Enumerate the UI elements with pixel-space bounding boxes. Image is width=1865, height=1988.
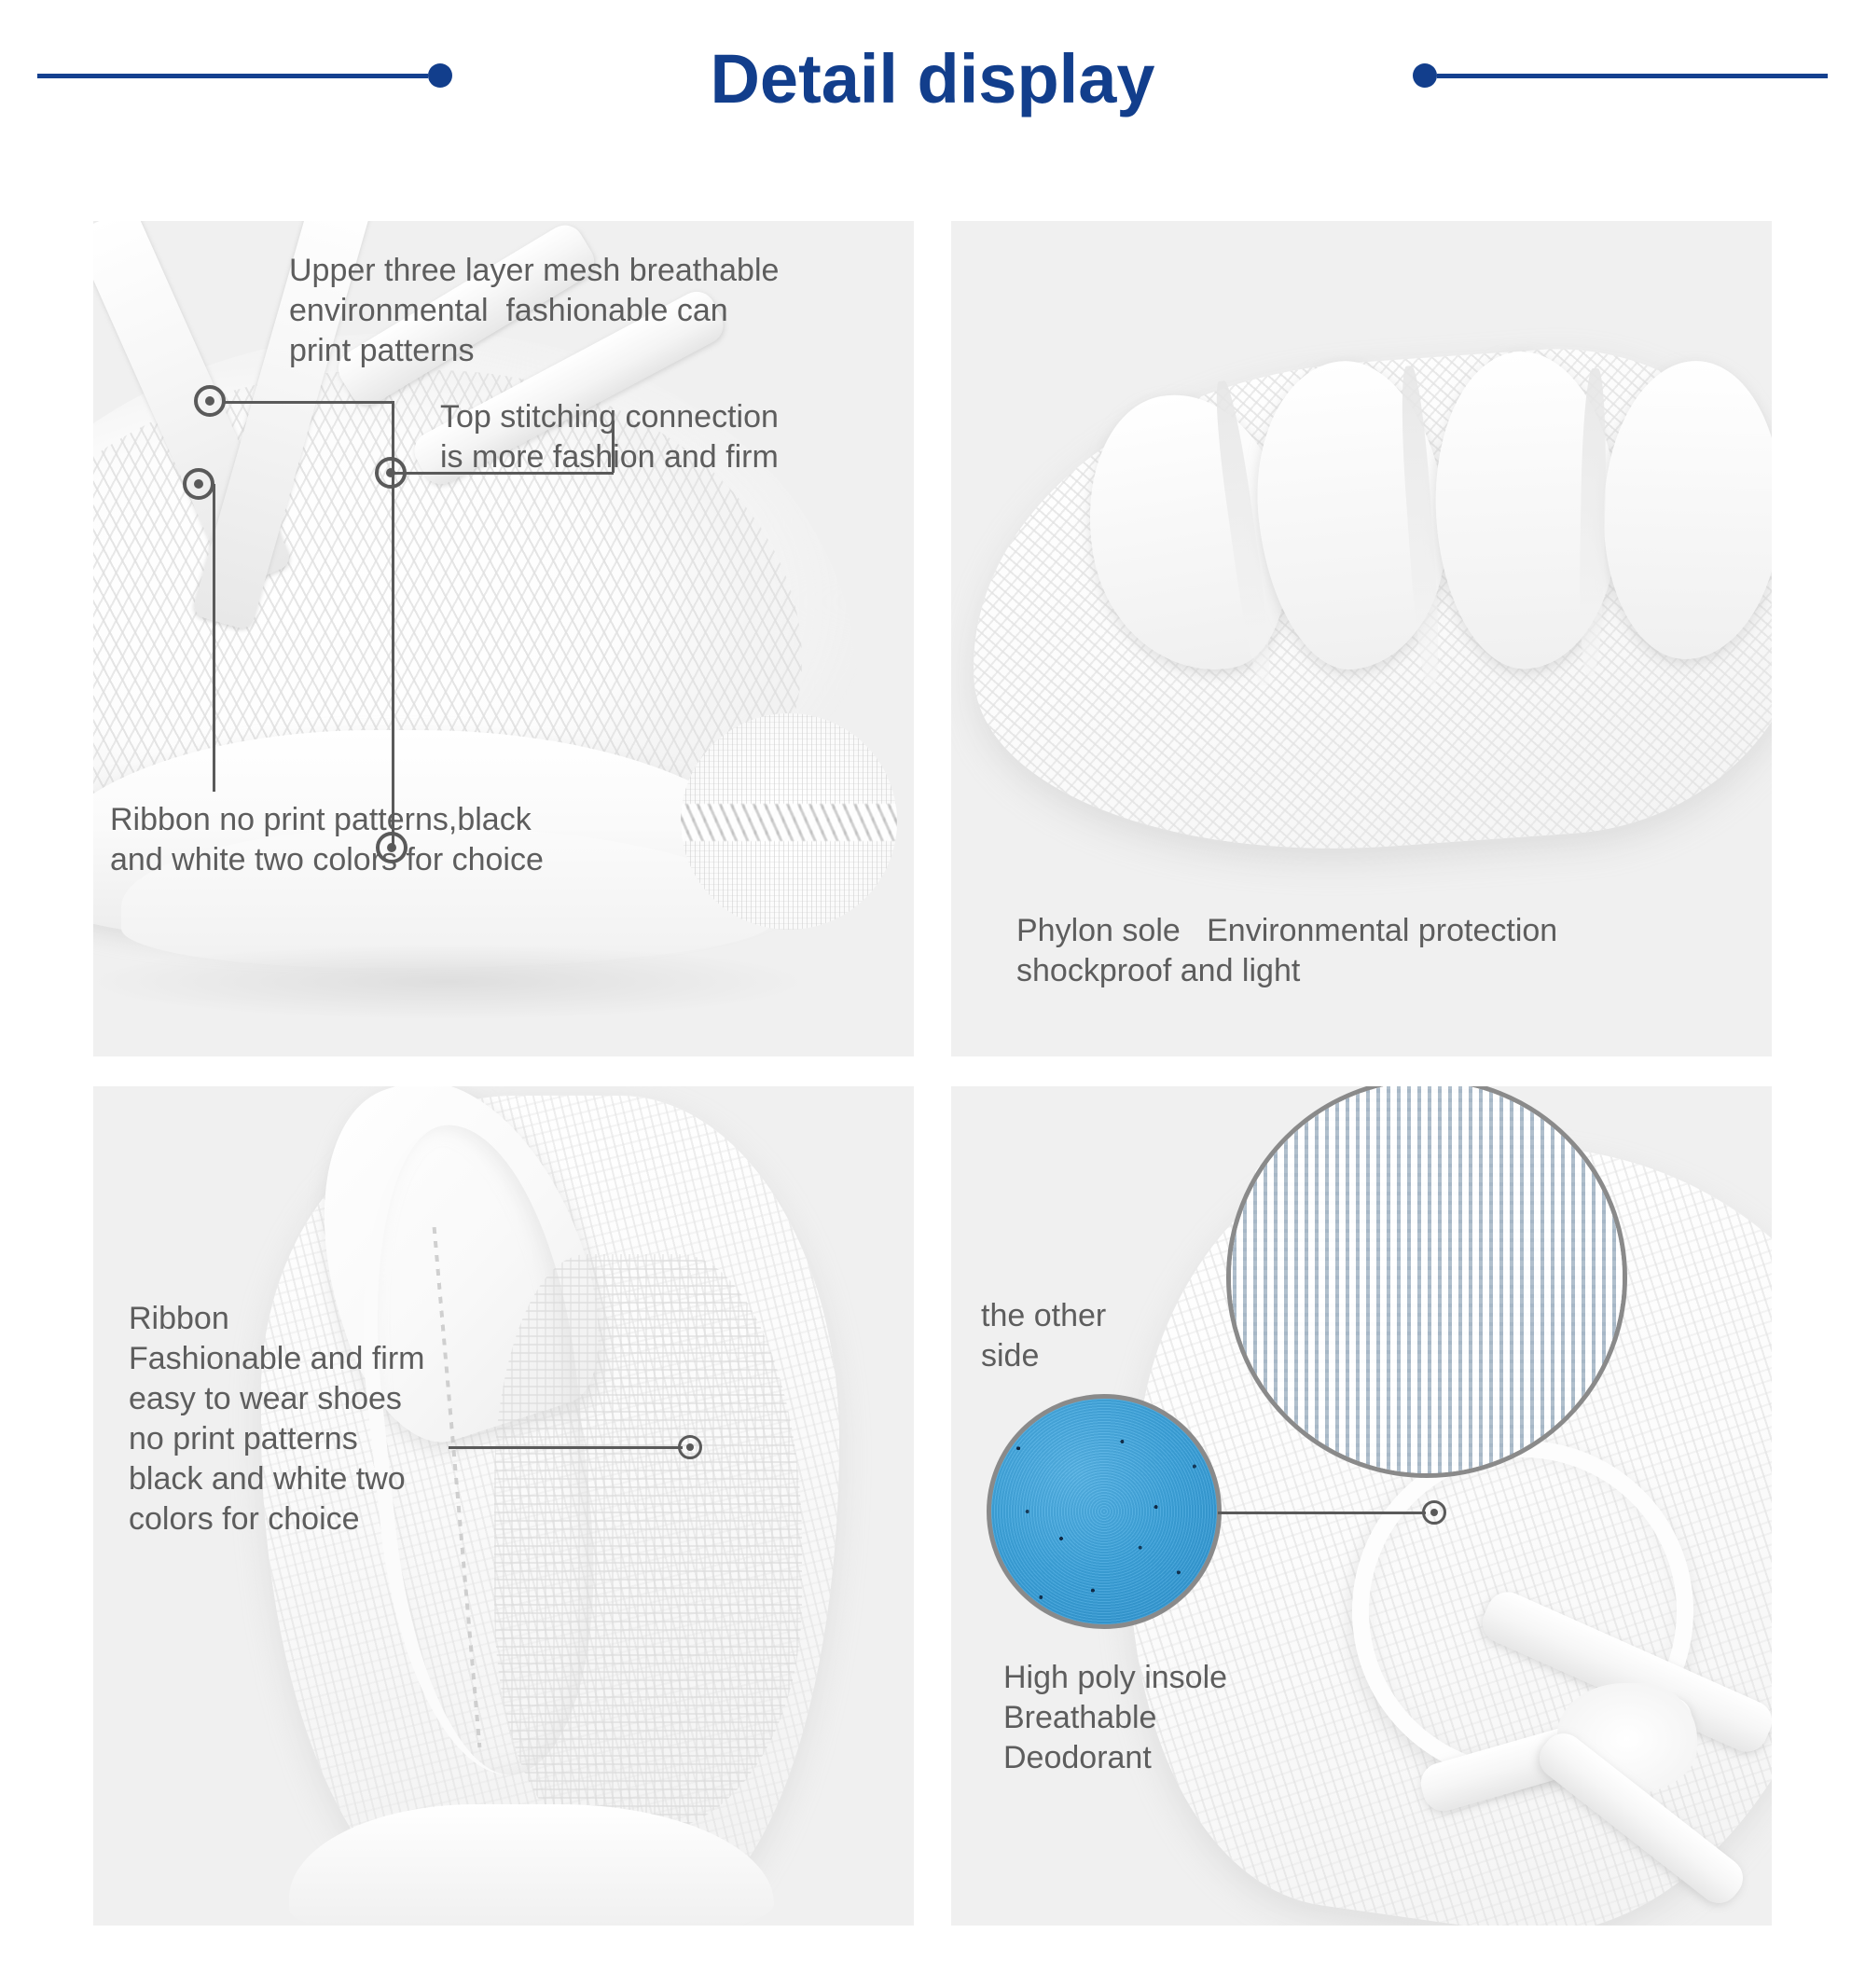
- ribbon-caption-line-1: Ribbon: [129, 1299, 229, 1339]
- phylon-sole-caption-line-2: shockproof and light: [1016, 951, 1300, 991]
- insole-foam-closeup-circle: [987, 1394, 1222, 1629]
- ribbon-caption-line-6: colors for choice: [129, 1499, 360, 1539]
- ribbon-collar-panel: Ribbon Fashionable and firm easy to wear…: [93, 1086, 914, 1926]
- upper-mesh-caption-line-3: print patterns: [289, 331, 474, 371]
- leader-line-2-v: [213, 484, 215, 792]
- page-header: Detail display: [0, 0, 1865, 159]
- sneaker-upper-photo: [93, 221, 914, 1056]
- high-poly-insole-caption-line-1: High poly insole: [1003, 1658, 1227, 1698]
- callout-marker-upper-mesh[interactable]: [194, 385, 226, 417]
- phylon-sole-panel: Phylon sole Environmental protection sho…: [951, 221, 1772, 1056]
- leader-line-insole-h: [1218, 1512, 1426, 1514]
- top-stitching-caption-line-1: Top stitching connection: [440, 397, 779, 437]
- leader-line-3-v: [612, 421, 615, 473]
- stitching-closeup-circle: [681, 713, 897, 930]
- callout-marker-stitching[interactable]: [375, 457, 407, 489]
- header-decoration-left: [37, 73, 452, 78]
- insole-panel: the other side High poly insole Breathab…: [951, 1086, 1772, 1926]
- decoration-dot-right: [1413, 63, 1437, 88]
- ribbon-colors-caption-line-2: and white two colors for choice: [110, 840, 544, 880]
- callout-marker-ribbon[interactable]: [183, 468, 214, 500]
- ribbon-caption-line-2: Fashionable and firm: [129, 1339, 425, 1379]
- decoration-dot-left: [428, 63, 452, 88]
- decoration-line-left: [37, 74, 428, 78]
- high-poly-insole-caption-line-3: Deodorant: [1003, 1738, 1152, 1778]
- leader-line-3-h: [390, 472, 614, 475]
- page-title: Detail display: [710, 45, 1154, 114]
- callout-marker-ribbon-bottom[interactable]: [376, 832, 408, 863]
- phylon-sole-caption-line-1: Phylon sole Environmental protection: [1016, 911, 1557, 951]
- ribbon-colors-caption-line-1: Ribbon no print patterns,black: [110, 800, 532, 840]
- upper-mesh-panel: Upper three layer mesh breathable enviro…: [93, 221, 914, 1056]
- decoration-line-right: [1437, 74, 1828, 78]
- ribbon-caption-line-3: easy to wear shoes: [129, 1379, 402, 1419]
- ribbon-caption-line-5: black and white two: [129, 1459, 406, 1499]
- callout-marker-insole[interactable]: [1422, 1500, 1446, 1525]
- upper-mesh-caption-line-1: Upper three layer mesh breathable: [289, 251, 779, 291]
- ribbon-caption-line-4: no print patterns: [129, 1419, 358, 1459]
- upper-mesh-caption-line-2: environmental fashionable can: [289, 291, 728, 331]
- other-side-caption-line-1: the other: [981, 1296, 1106, 1336]
- callout-marker-ribbon-collar[interactable]: [678, 1435, 702, 1459]
- other-side-caption-line-2: side: [981, 1336, 1039, 1376]
- mesh-closeup-circle: [1226, 1086, 1627, 1478]
- detail-panel-grid: Upper three layer mesh breathable enviro…: [93, 221, 1772, 1955]
- leader-line-ribbon-h: [449, 1446, 683, 1449]
- header-decoration-right: [1413, 73, 1828, 78]
- leader-line-1-h: [224, 401, 394, 404]
- high-poly-insole-caption-line-2: Breathable: [1003, 1698, 1156, 1738]
